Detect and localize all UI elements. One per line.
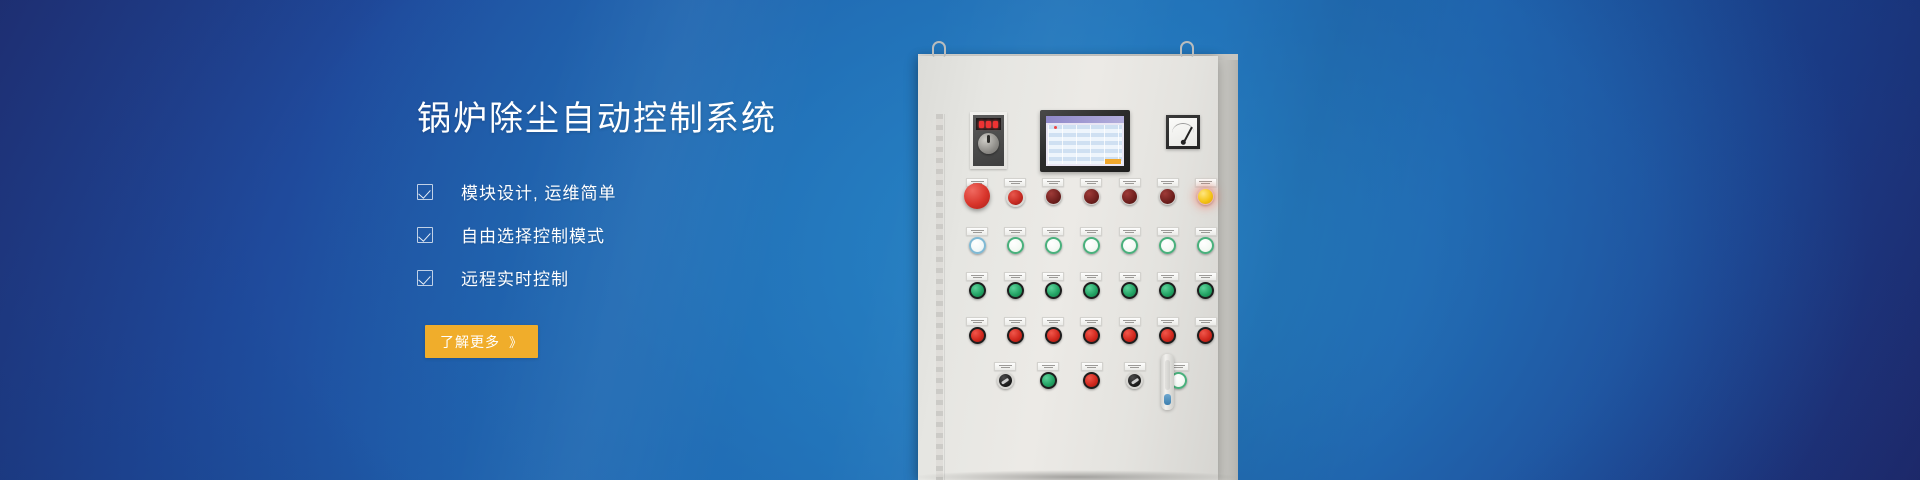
indicator-dark-red[interactable] [1117, 178, 1143, 209]
button-label-tag [1080, 272, 1102, 281]
start-green[interactable] [1002, 272, 1028, 299]
list-item: 模块设计, 运维简单 [417, 175, 937, 208]
button-label-tag [1195, 317, 1217, 326]
feature-label: 远程实时控制 [461, 265, 569, 290]
indicator-lamp-icon[interactable] [1121, 237, 1138, 254]
list-item: 远程实时控制 [417, 261, 937, 294]
row-white-indicators [964, 227, 1219, 254]
button-label-tag [1157, 178, 1179, 187]
button-label-tag [1157, 317, 1179, 326]
stop-button-icon[interactable] [1197, 327, 1214, 344]
button-label-tag [966, 317, 988, 326]
button-label-tag [1080, 227, 1102, 236]
stop-red[interactable] [1155, 317, 1181, 344]
checkbox-icon [417, 270, 433, 286]
hmi-screen[interactable] [1046, 116, 1124, 166]
start-button-icon[interactable] [969, 282, 986, 299]
emergency-stop[interactable] [964, 178, 990, 209]
analog-ammeter [1166, 115, 1200, 149]
indicator-white[interactable] [1078, 227, 1104, 254]
row-emergency-indicators [964, 178, 1219, 209]
button-label-tag [1119, 227, 1141, 236]
stop-button-icon[interactable] [1007, 327, 1024, 344]
instrument-row [970, 110, 1218, 172]
start-button-icon[interactable] [1121, 282, 1138, 299]
start-green[interactable] [1040, 272, 1066, 299]
row-green-buttons [964, 272, 1219, 299]
indicator-lamp-icon[interactable] [1197, 188, 1214, 205]
button-label-tag [1042, 227, 1064, 236]
indicator-lamp-icon[interactable] [1159, 188, 1176, 205]
stop-red[interactable] [1040, 317, 1066, 344]
hmi-title-bar [1046, 116, 1124, 123]
indicator-lamp-icon[interactable] [1045, 237, 1062, 254]
start-button-icon[interactable] [1197, 282, 1214, 299]
start-green[interactable] [1035, 362, 1061, 389]
indicator-white[interactable] [1117, 227, 1143, 254]
hero-banner: 锅炉除尘自动控制系统 模块设计, 运维简单 自由选择控制模式 远程实时控制 了解… [0, 0, 1920, 480]
start-button-icon[interactable] [1040, 372, 1057, 389]
indicator-white[interactable] [1155, 227, 1181, 254]
row-red-buttons [964, 317, 1219, 344]
button-label-tag [1081, 362, 1103, 371]
indicator-lamp-icon[interactable] [969, 237, 986, 254]
start-green[interactable] [1193, 272, 1219, 299]
feature-label: 自由选择控制模式 [461, 222, 605, 247]
button-label-tag [1042, 317, 1064, 326]
button-label-tag [1119, 272, 1141, 281]
lifting-eye-icon [1180, 41, 1194, 57]
start-green[interactable] [1117, 272, 1143, 299]
stop-red[interactable] [1079, 362, 1105, 389]
indicator-dark-red[interactable] [1155, 178, 1181, 209]
button-label-tag [1004, 272, 1026, 281]
button-label-tag [1080, 178, 1102, 187]
checkbox-icon [417, 184, 433, 200]
stop-button-icon[interactable] [1121, 327, 1138, 344]
page-title: 锅炉除尘自动控制系统 [417, 100, 937, 139]
stop-red[interactable] [1117, 317, 1143, 344]
row-selector-switches [964, 362, 1219, 389]
button-label-tag [1004, 317, 1026, 326]
start-green[interactable] [964, 272, 990, 299]
button-label-tag [1004, 178, 1026, 187]
controller-face [973, 115, 1004, 166]
button-label-tag [1124, 362, 1146, 371]
list-item: 自由选择控制模式 [417, 218, 937, 251]
button-label-tag [1195, 178, 1217, 187]
button-label-tag [1042, 178, 1064, 187]
button-label-tag [1119, 317, 1141, 326]
indicator-lamp-icon[interactable] [1045, 188, 1062, 205]
indicator-white[interactable] [964, 227, 990, 254]
selector-knob[interactable] [1122, 362, 1148, 389]
gauge-needle-icon [1183, 127, 1192, 143]
emergency-stop-icon[interactable] [964, 183, 990, 209]
stop-button-icon[interactable] [1045, 327, 1062, 344]
feature-label: 模块设计, 运维简单 [461, 179, 616, 204]
stop-button-icon[interactable] [1083, 327, 1100, 344]
gauge-face [1169, 118, 1197, 146]
indicator-lamp-icon[interactable] [1121, 188, 1138, 205]
stop-red[interactable] [1002, 317, 1028, 344]
cabinet-door [918, 56, 1218, 480]
selector-switch-icon[interactable] [1126, 372, 1143, 389]
indicator-lamp-icon[interactable] [1083, 237, 1100, 254]
indicator-dark-red[interactable] [1078, 178, 1104, 209]
learn-more-button[interactable]: 了解更多 》 [425, 325, 538, 358]
start-green[interactable] [1155, 272, 1181, 299]
button-label-tag [1004, 227, 1026, 236]
chevron-right-icon: 》 [509, 332, 523, 351]
alarm-red[interactable] [1002, 178, 1028, 209]
stop-button-icon[interactable] [969, 327, 986, 344]
stop-button-icon[interactable] [1159, 327, 1176, 344]
start-button-icon[interactable] [1159, 282, 1176, 299]
indicator-lamp-icon[interactable] [1007, 237, 1024, 254]
indicator-white[interactable] [1193, 227, 1219, 254]
button-label-tag [1195, 227, 1217, 236]
button-label-tag [966, 272, 988, 281]
start-button-icon[interactable] [1007, 282, 1024, 299]
button-grid [964, 178, 1219, 407]
hmi-action-button[interactable] [1105, 159, 1121, 164]
cabinet-door-seam [944, 114, 945, 480]
button-label-tag [1157, 227, 1179, 236]
hmi-touch-panel[interactable] [1040, 110, 1130, 172]
button-label-tag [994, 362, 1016, 371]
button-label-tag [1157, 272, 1179, 281]
door-handle[interactable] [1161, 354, 1174, 410]
stop-red[interactable] [964, 317, 990, 344]
indicator-amber[interactable] [1193, 178, 1219, 209]
digital-display [976, 118, 1001, 130]
indicator-dark-red[interactable] [1040, 178, 1066, 209]
button-label-tag [1195, 272, 1217, 281]
button-label-tag [1037, 362, 1059, 371]
cabinet-hinges [936, 114, 943, 480]
selector-knob[interactable] [992, 362, 1018, 389]
stop-red[interactable] [1193, 317, 1219, 344]
indicator-white[interactable] [1040, 227, 1066, 254]
start-button-icon[interactable] [1083, 282, 1100, 299]
indicator-white[interactable] [1002, 227, 1028, 254]
rotary-knob-icon[interactable] [978, 133, 999, 154]
cabinet-side-panel [1218, 60, 1238, 480]
indicator-lamp-icon[interactable] [1159, 237, 1176, 254]
button-label-tag [1080, 317, 1102, 326]
cabinet-ground-shadow [910, 470, 1240, 480]
indicator-lamp-icon[interactable] [1197, 237, 1214, 254]
button-label-tag [1119, 178, 1141, 187]
start-green[interactable] [1078, 272, 1104, 299]
indicator-lamp-icon[interactable] [1083, 188, 1100, 205]
banner-copy: 锅炉除尘自动控制系统 模块设计, 运维简单 自由选择控制模式 远程实时控制 了解… [417, 100, 937, 358]
lifting-eye-icon [932, 41, 946, 57]
stop-red[interactable] [1078, 317, 1104, 344]
stop-button-icon[interactable] [1083, 372, 1100, 389]
feature-list: 模块设计, 运维简单 自由选择控制模式 远程实时控制 [417, 175, 937, 294]
start-button-icon[interactable] [1045, 282, 1062, 299]
alarm-lamp-icon[interactable] [1006, 188, 1025, 207]
power-led-icon [1054, 126, 1057, 129]
digital-speed-controller[interactable] [970, 112, 1007, 169]
learn-more-label: 了解更多 [440, 332, 500, 352]
button-label-tag [966, 227, 988, 236]
button-label-tag [1042, 272, 1064, 281]
checkbox-icon [417, 227, 433, 243]
control-cabinet-image [900, 0, 1520, 480]
selector-switch-icon[interactable] [997, 372, 1014, 389]
